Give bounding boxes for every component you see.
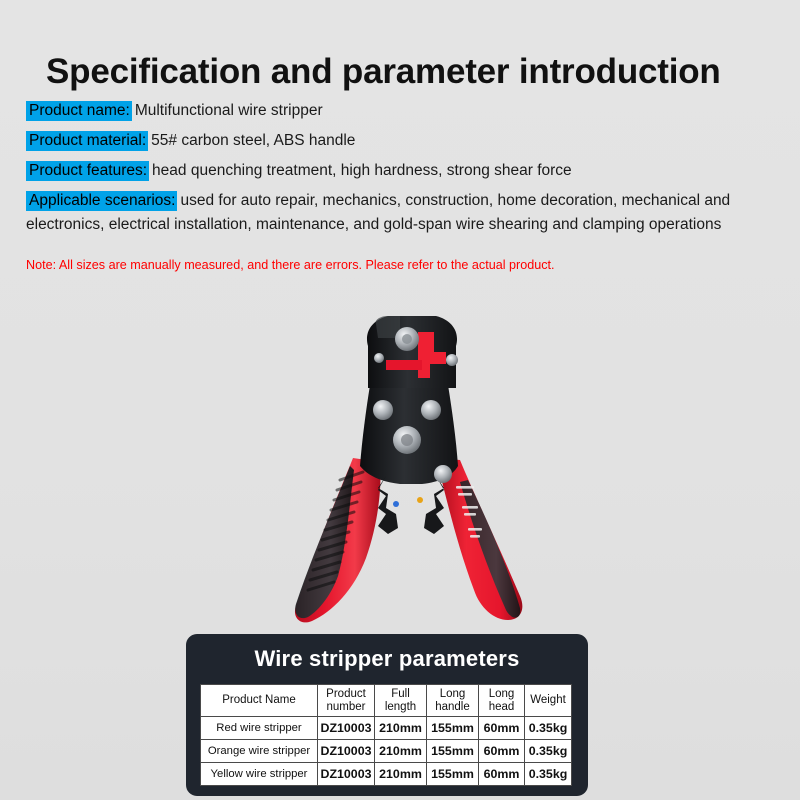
cell-product-number: DZ10003 — [318, 740, 375, 763]
tool-rivet-left — [373, 400, 393, 420]
cell-weight: 0.35kg — [525, 717, 572, 740]
col-full-length: Full length — [375, 685, 427, 717]
cell-long-handle: 155mm — [427, 763, 479, 786]
cell-product-name: Red wire stripper — [201, 717, 318, 740]
cell-weight: 0.35kg — [525, 763, 572, 786]
spec-label-product-material: Product material: — [26, 131, 148, 151]
product-spec-page: Specification and parameter introduction… — [0, 0, 800, 800]
spec-value-product-name: Multifunctional wire stripper — [132, 102, 323, 119]
table-row: Orange wire stripper DZ10003 210mm 155mm… — [201, 740, 572, 763]
spec-label-applicable-scenarios: Applicable scenarios: — [26, 191, 177, 211]
panel-title: Wire stripper parameters — [186, 646, 588, 672]
tool-teeth-right — [424, 476, 444, 534]
spec-row-applicable-scenarios: Applicable scenarios:used for auto repai… — [26, 189, 748, 238]
tool-lever-arm — [386, 360, 422, 370]
spec-label-product-features: Product features: — [26, 161, 149, 181]
parameters-table-wrapper: Product Name Product number Full length … — [200, 684, 571, 786]
col-weight: Weight — [525, 685, 572, 717]
spec-label-product-name: Product name: — [26, 101, 132, 121]
cell-long-head: 60mm — [479, 717, 525, 740]
tool-screw-left — [374, 353, 384, 363]
col-long-head: Long head — [479, 685, 525, 717]
cell-long-head: 60mm — [479, 763, 525, 786]
tool-screw-lower — [434, 465, 452, 483]
tool-screw-right — [446, 354, 458, 366]
cell-long-handle: 155mm — [427, 717, 479, 740]
cell-product-name: Orange wire stripper — [201, 740, 318, 763]
cell-product-number: DZ10003 — [318, 717, 375, 740]
parameters-table: Product Name Product number Full length … — [200, 684, 572, 786]
tool-dot-blue — [393, 501, 399, 507]
spec-row-product-material: Product material:55# carbon steel, ABS h… — [26, 129, 748, 153]
page-title: Specification and parameter introduction — [46, 52, 721, 92]
table-header-row: Product Name Product number Full length … — [201, 685, 572, 717]
tool-rivet-right — [421, 400, 441, 420]
tool-dot-orange — [417, 497, 423, 503]
product-photo-wire-stripper — [250, 290, 570, 630]
cell-full-length: 210mm — [375, 763, 427, 786]
measurement-note: Note: All sizes are manually measured, a… — [26, 258, 555, 272]
col-product-name: Product Name — [201, 685, 318, 717]
parameters-panel: Wire stripper parameters Product Name Pr… — [186, 634, 588, 796]
cell-full-length: 210mm — [375, 717, 427, 740]
cell-product-name: Yellow wire stripper — [201, 763, 318, 786]
spec-row-product-name: Product name:Multifunctional wire stripp… — [26, 99, 748, 123]
cell-long-handle: 155mm — [427, 740, 479, 763]
table-row: Yellow wire stripper DZ10003 210mm 155mm… — [201, 763, 572, 786]
spec-row-product-features: Product features:head quenching treatmen… — [26, 159, 748, 183]
spec-value-product-material: 55# carbon steel, ABS handle — [148, 132, 355, 149]
spec-value-product-features: head quenching treatment, high hardness,… — [149, 162, 572, 179]
cell-full-length: 210mm — [375, 740, 427, 763]
specification-list: Product name:Multifunctional wire stripp… — [26, 99, 748, 243]
col-long-handle: Long handle — [427, 685, 479, 717]
tool-rivet-top-center — [402, 334, 412, 344]
cell-product-number: DZ10003 — [318, 763, 375, 786]
cell-weight: 0.35kg — [525, 740, 572, 763]
table-row: Red wire stripper DZ10003 210mm 155mm 60… — [201, 717, 572, 740]
cell-long-head: 60mm — [479, 740, 525, 763]
col-product-number: Product number — [318, 685, 375, 717]
tool-rivet-center-inner — [401, 434, 413, 446]
